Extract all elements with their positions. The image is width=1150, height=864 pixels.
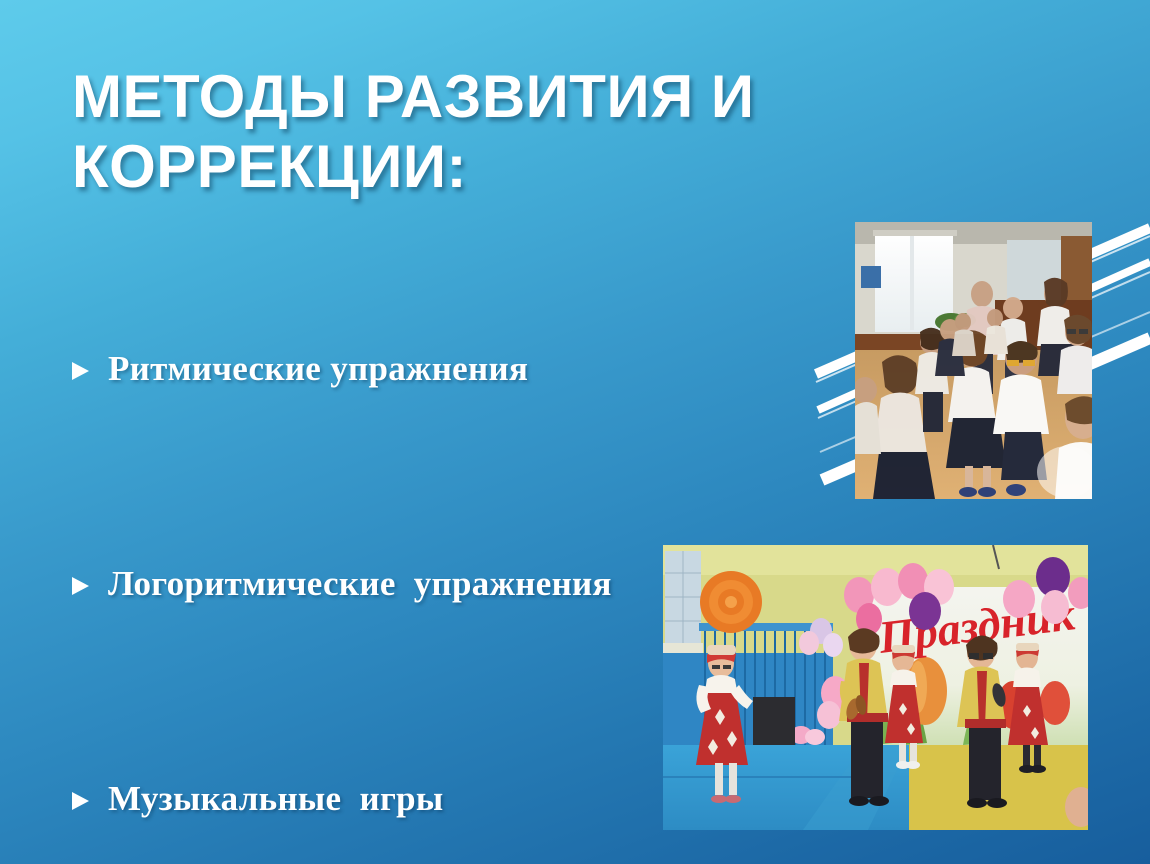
- presentation-slide: МЕТОДЫ РАЗВИТИЯ И КОРРЕКЦИИ: Ритмические…: [0, 0, 1150, 864]
- bullet-item-musical-games: Музыкальные игры: [0, 692, 700, 864]
- photo-folk-performance: Праздник: [663, 545, 1088, 830]
- triangle-right-icon: [68, 359, 94, 383]
- triangle-right-icon: [68, 574, 94, 598]
- photo-folk-performance-image: Праздник: [663, 545, 1088, 830]
- bullet-label: Ритмические упражнения: [108, 350, 528, 389]
- bullet-label: Музыкальные игры: [108, 780, 444, 819]
- bullet-list: Ритмические упражнения Логоритмические у…: [0, 262, 700, 864]
- bullet-label: Логоритмические упражнения: [108, 565, 612, 604]
- bullet-item-logorhythmic: Логоритмические упражнения: [0, 477, 700, 692]
- photo-circle-dance: [855, 222, 1092, 499]
- photo-circle-dance-image: [855, 222, 1092, 499]
- triangle-right-icon: [68, 789, 94, 813]
- bullet-item-rhythmic: Ритмические упражнения: [0, 262, 700, 477]
- slide-title: МЕТОДЫ РАЗВИТИЯ И КОРРЕКЦИИ:: [72, 62, 872, 202]
